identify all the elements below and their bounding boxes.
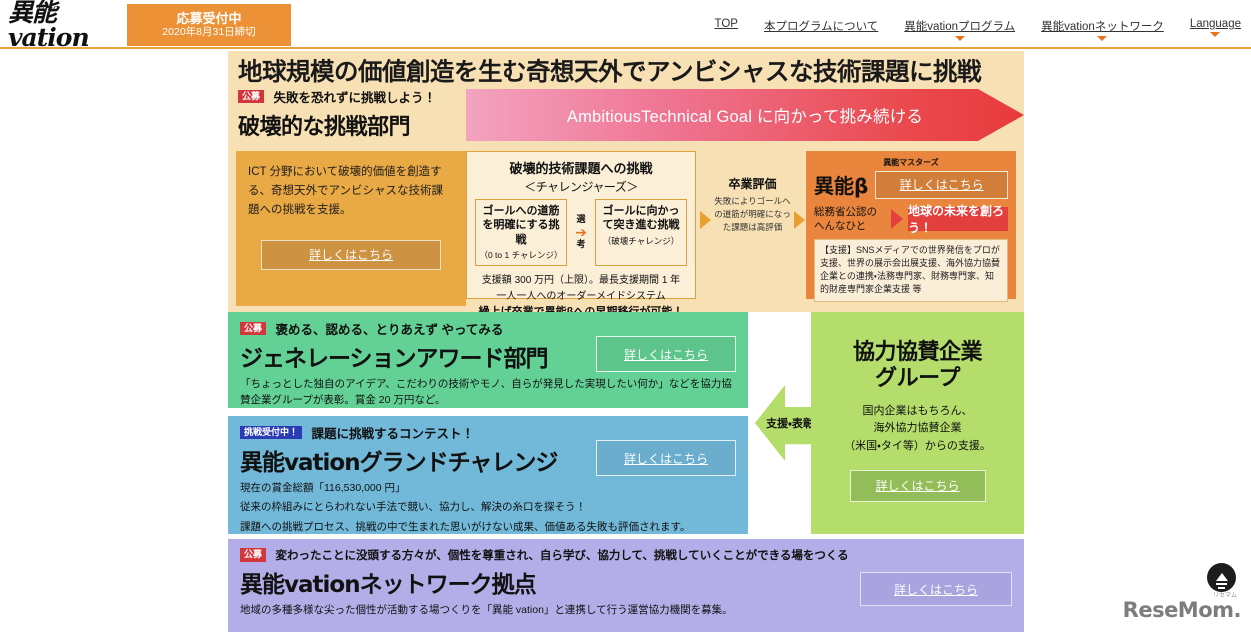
nav-item-label: 本プログラムについて (764, 21, 878, 33)
challenge-box-title: ゴールへの道筋を明確にする挑戦 (478, 204, 564, 247)
status-badge: 挑戦受付中！ (240, 426, 302, 440)
challengers-card: 破壊的技術課題への挑戦 ＜チャレンジャーズ＞ ゴールへの道筋を明確にする挑戦 （… (466, 151, 696, 299)
challenge-box-subtitle: （破壊チャレンジ） (598, 235, 684, 247)
brand-logo-text: 異能vation (8, 0, 126, 50)
masters-support-note: 【支援】SNSメディアでの世界発信をプロが支援、世界の展示会出展支援、海外協力協… (814, 239, 1008, 301)
challenge-box-subtitle: （0 to 1 チャレンジ） (478, 249, 564, 261)
brand-logo[interactable]: Inno 異能vation (8, 4, 126, 46)
arrow-up-icon (1216, 573, 1228, 581)
nav-item-label: 異能vationネットワーク (1041, 21, 1164, 33)
ambitious-goal-banner: AmbitiousTechnical Goal に向かって挑み続ける (466, 89, 1024, 141)
graduation-title: 卒業評価 (700, 175, 805, 192)
arrow-right-icon (794, 211, 805, 229)
partner-title-line1: 協力協賛企業 (821, 340, 1014, 366)
arrow-right-icon (891, 209, 903, 229)
main-navigation: TOP 本プログラムについて 異能vationプログラム 異能vationネット… (715, 18, 1241, 41)
ambitious-goal-text: AmbitiousTechnical Goal に向かって挑み続ける (567, 103, 923, 127)
chevron-down-icon (1210, 32, 1220, 37)
watermark-text: ReseMom. (1123, 598, 1241, 622)
partner-detail-button[interactable]: 詳しくはこちら (850, 470, 986, 502)
network-detail-button[interactable]: 詳しくはこちら (860, 572, 1012, 606)
generation-award-block: 公募 褒める、認める、とりあえず やってみる ジェネレーションアワード部門 「ち… (228, 312, 748, 408)
challenge-box-title: ゴールに向かって突き進む挑戦 (598, 204, 684, 233)
scroll-top-bar-icon (1216, 583, 1227, 586)
section-network-hub: 公募 変わったことに没頭する方々が、個性を尊重され、自ら学び、協力して、挑戦して… (228, 539, 1024, 632)
scroll-to-top-button[interactable] (1207, 563, 1236, 592)
nav-item-label: 異能vationプログラム (904, 21, 1015, 33)
nav-item-inovation-network[interactable]: 異能vationネットワーク (1041, 18, 1164, 41)
application-status-title: 応募受付中 (176, 12, 241, 27)
status-badge: 公募 (240, 548, 266, 562)
nav-item-label: Language (1190, 18, 1241, 30)
watermark-ruby: リセマム (1213, 590, 1237, 599)
grand-challenge-body-3: 課題への挑戦プロセス、挑戦の中で生まれた思いがけない成果、価値ある失敗も評価され… (240, 519, 736, 535)
resemom-watermark: リセマム ReseMom. (1123, 598, 1241, 622)
arrow-right-icon (700, 211, 711, 229)
challengers-funding-note: 支援額 300 万円（上限）。最長支援期間 1 年 (473, 271, 689, 286)
status-badge: 公募 (240, 322, 266, 336)
selection-label: 選 ➔ 考 (569, 199, 593, 266)
disruptive-main-title: 破壊的な挑戦部門 (238, 109, 468, 141)
nav-item-language[interactable]: Language (1190, 18, 1241, 37)
section-award-and-challenge: 公募 褒める、認める、とりあえず やってみる ジェネレーションアワード部門 「ち… (228, 312, 1024, 539)
nav-item-inovation-program[interactable]: 異能vationプログラム (904, 18, 1015, 41)
selection-label-bottom: 考 (576, 240, 585, 250)
section-title: 地球規模の価値創造を生む奇想天外でアンビシャスな技術課題に挑戦 (238, 53, 1018, 88)
brand-logo-superscript: Inno (38, 4, 59, 14)
nav-item-label: TOP (715, 18, 738, 30)
scroll-top-bar-small-icon (1218, 587, 1225, 590)
disruptive-description-card: ICT 分野において破壊的価値を創造する、奇想天外でアンビシャスな技術課題への挑… (236, 151, 466, 306)
inou-masters-card: 異能マスターズ 異能β 詳しくはこちら 総務省公認のへんなひと 地球の未来を創ろ… (806, 151, 1016, 299)
site-header: Inno 異能vation 応募受付中 2020年8月31日締切 TOP 本プロ… (0, 0, 1251, 49)
partner-body-line1: 国内企業はもちろん、 (821, 403, 1014, 421)
partner-body-line2: 海外協力協賛企業 (821, 420, 1014, 438)
partner-title-line2: グループ (821, 366, 1014, 392)
masters-label: 異能マスターズ (814, 157, 1008, 168)
network-subtitle: 変わったことに没頭する方々が、個性を尊重され、自ら学び、協力して、挑戦していくこ… (275, 550, 848, 562)
challenge-box-disruptive: ゴールに向かって突き進む挑戦 （破壊チャレンジ） (595, 199, 687, 266)
grand-challenge-subtitle: 課題に挑戦するコンテスト！ (311, 427, 474, 441)
content-column: 地球規模の価値創造を生む奇想天外でアンビシャスな技術課題に挑戦 公募 失敗を恐れ… (228, 51, 1024, 632)
nav-item-about-program[interactable]: 本プログラムについて (764, 18, 878, 41)
disruptive-description-text: ICT 分野において破壊的価値を創造する、奇想天外でアンビシャスな技術課題への挑… (248, 163, 454, 220)
masters-detail-button[interactable]: 詳しくはこちら (875, 171, 1008, 199)
graduation-evaluation: 卒業評価 失敗によりゴールへの道筋が明確になった課題は高評価 (700, 175, 805, 233)
partner-companies-card: 協力協賛企業 グループ 国内企業はもちろん、 海外協力協賛企業 （米国・タイ等）… (811, 312, 1024, 534)
chevron-down-icon (1097, 36, 1107, 41)
application-deadline: 2020年8月31日締切 (162, 26, 255, 38)
application-status-banner[interactable]: 応募受付中 2020年8月31日締切 (127, 4, 291, 46)
generation-subtitle: 褒める、認める、とりあえず やってみる (275, 323, 503, 337)
masters-lead-text: 総務省公認のへんなひと (814, 205, 886, 233)
masters-cta-row: 総務省公認のへんなひと 地球の未来を創ろう！ (814, 205, 1008, 233)
status-badge: 公募 (238, 90, 264, 104)
masters-beta-title: 異能β (814, 170, 868, 199)
challengers-system-note: 一人一人へのオーダーメイドシステム (473, 287, 689, 302)
partner-body-line3: （米国・タイ等）からの支援。 (821, 438, 1014, 456)
nav-item-top[interactable]: TOP (715, 18, 738, 37)
chevron-down-icon (955, 36, 965, 41)
challengers-title: 破壊的技術課題への挑戦 (473, 158, 689, 177)
challenge-box-zero-to-one: ゴールへの道筋を明確にする挑戦 （0 to 1 チャレンジ） (475, 199, 567, 266)
arrow-right-icon: ➔ (575, 225, 587, 239)
disruptive-subtitle: 失敗を恐れずに挑戦しよう！ (273, 91, 436, 105)
disruptive-headline-row: 公募 失敗を恐れずに挑戦しよう！ 破壊的な挑戦部門 AmbitiousTechn… (228, 87, 1024, 147)
generation-body: 「ちょっとした独自のアイデア、こだわりの技術やモノ、自らが発見した実現したい何か… (240, 376, 736, 409)
section-disruptive-challenge: 地球規模の価値創造を生む奇想天外でアンビシャスな技術課題に挑戦 公募 失敗を恐れ… (228, 51, 1024, 312)
grand-challenge-detail-button[interactable]: 詳しくはこちら (596, 440, 736, 476)
masters-header-row: 異能β 詳しくはこちら (814, 170, 1008, 199)
grand-challenge-prize: 現在の賞金総額「116,530,000 円」 (240, 480, 736, 496)
grand-challenge-block: 挑戦受付中！ 課題に挑戦するコンテスト！ 異能vationグランドチャレンジ 現… (228, 416, 748, 534)
challengers-subtitle: ＜チャレンジャーズ＞ (473, 178, 689, 195)
disruptive-detail-button[interactable]: 詳しくはこちら (261, 240, 441, 270)
challengers-pair: ゴールへの道筋を明確にする挑戦 （0 to 1 チャレンジ） 選 ➔ 考 ゴール… (473, 199, 689, 266)
disruptive-body: ICT 分野において破壊的価値を創造する、奇想天外でアンビシャスな技術課題への挑… (228, 151, 1024, 309)
selection-label-top: 選 (576, 215, 585, 225)
grand-challenge-body-2: 従来の枠組みにとらわれない手法で競い、協力し、解決の糸口を探そう！ (240, 499, 736, 515)
disruptive-headline: 公募 失敗を恐れずに挑戦しよう！ 破壊的な挑戦部門 (238, 87, 468, 141)
graduation-body: 失敗によりゴールへの道筋が明確になった課題は高評価 (700, 195, 805, 233)
masters-cta-banner: 地球の未来を創ろう！ (908, 207, 1008, 231)
generation-detail-button[interactable]: 詳しくはこちら (596, 336, 736, 372)
